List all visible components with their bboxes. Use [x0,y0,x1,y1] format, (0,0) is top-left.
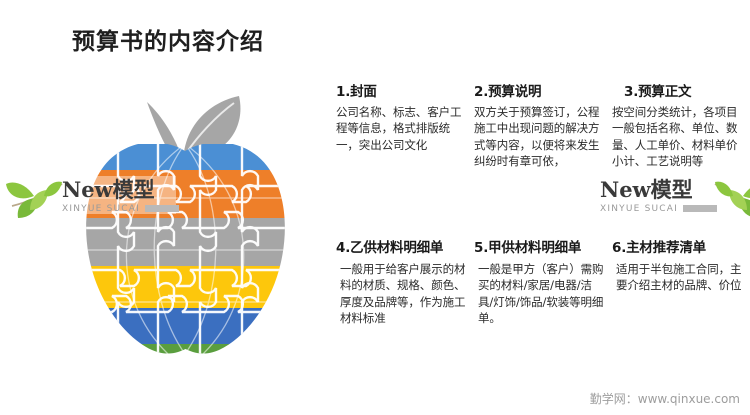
content-row-bottom: 4.乙供材料明细单 一般用于给客户展示的材料的材质、规格、颜色、厚度及品牌等，作… [336,240,750,326]
content-item-3: 3.预算正文 按空间分类统计，各项目一般包括名称、单位、数量、人工单价、材料单价… [612,84,750,169]
item-1-heading: 1.封面 [336,84,466,101]
slide-root: 预算书的内容介绍 [0,0,750,415]
item-6-heading: 6.主材推荐清单 [612,240,742,257]
item-1-body: 公司名称、标志、客户工程等信息，格式排版统一，突出公司文化 [336,104,466,153]
item-2-heading: 2.预算说明 [474,84,604,101]
band-green [48,344,323,358]
band-blue-bottom [48,308,323,344]
content-item-1: 1.封面 公司名称、标志、客户工程等信息，格式排版统一，突出公司文化 [336,84,474,153]
item-4-heading: 4.乙供材料明细单 [336,240,466,257]
content-columns: 1.封面 公司名称、标志、客户工程等信息，格式排版统一，突出公司文化 2.预算说… [336,84,750,354]
content-item-6: 6.主材推荐清单 适用于半包施工合同，主要介绍主材的品牌、价位 [612,240,750,294]
watermark-backdrop [56,176,176,214]
footer-site-credit: 勤学网：www.qinxue.com [590,390,740,407]
item-3-body: 按空间分类统计，各项目一般包括名称、单位、数量、人工单价、材料单价小计、工艺说明… [612,104,742,169]
item-2-body: 双方关于预算签订，公程施工中出现问题的解决方式等内容，以便将来发生纠纷时有章可依… [474,104,604,169]
item-6-body: 适用于半包施工合同，主要介绍主材的品牌、价位 [612,261,742,294]
content-item-5: 5.甲供材料明细单 一般是甲方（客户）需购买的材料/家居/电器/洁具/灯饰/饰品… [474,240,612,326]
content-row-top: 1.封面 公司名称、标志、客户工程等信息，格式排版统一，突出公司文化 2.预算说… [336,84,750,234]
content-item-4: 4.乙供材料明细单 一般用于给客户展示的材料的材质、规格、颜色、厚度及品牌等，作… [336,240,474,326]
item-5-heading: 5.甲供材料明细单 [474,240,604,257]
item-5-body: 一般是甲方（客户）需购买的材料/家居/电器/洁具/灯饰/饰品/软装等明细单。 [474,261,604,326]
content-item-2: 2.预算说明 双方关于预算签订，公程施工中出现问题的解决方式等内容，以便将来发生… [474,84,612,169]
item-3-heading: 3.预算正文 [612,84,742,101]
item-4-body: 一般用于给客户展示的材料的材质、规格、颜色、厚度及品牌等，作为施工材料标准 [336,261,466,326]
page-title: 预算书的内容介绍 [72,22,264,56]
